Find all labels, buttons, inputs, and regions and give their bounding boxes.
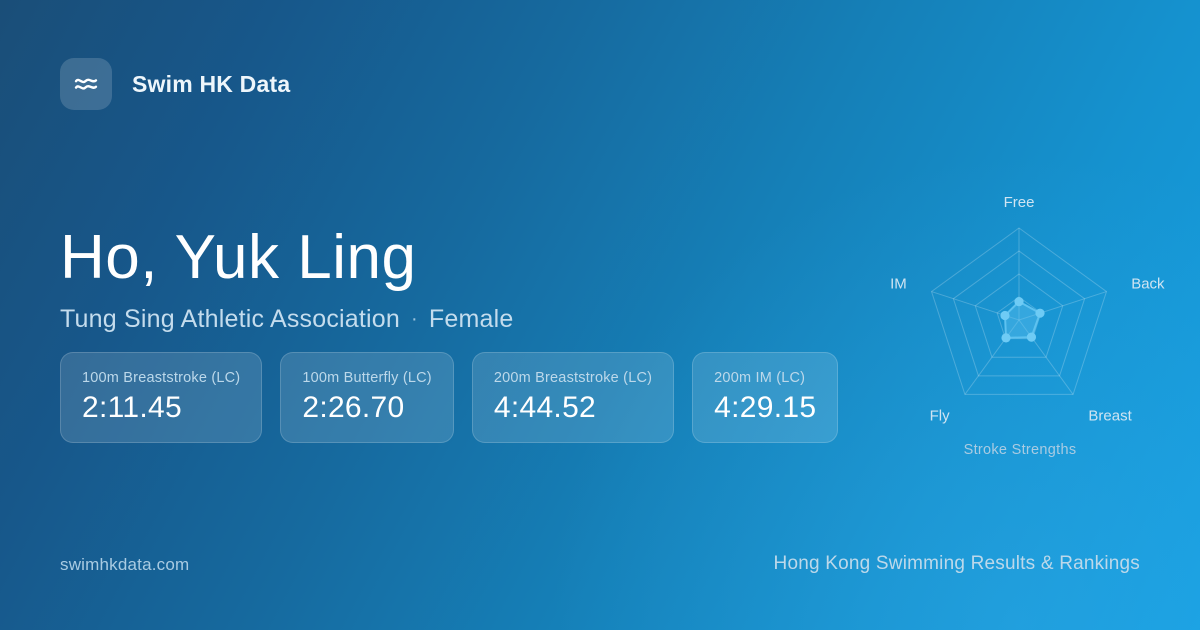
meta-separator: · <box>411 308 418 331</box>
athlete-header: Ho, Yuk Ling Tung Sing Athletic Associat… <box>60 222 513 334</box>
athlete-club: Tung Sing Athletic Association <box>60 305 400 334</box>
radar-axis-label: Free <box>1004 194 1035 211</box>
radar-data-point <box>1014 297 1023 306</box>
radar-data-point <box>1035 309 1044 318</box>
event-card: 100m Butterfly (LC) 2:26.70 <box>280 352 454 443</box>
radar-data-point <box>1001 333 1010 342</box>
radar-axis-label: IM <box>890 276 907 293</box>
event-time: 4:44.52 <box>494 392 652 424</box>
event-time: 2:26.70 <box>302 392 432 424</box>
wave-icon <box>60 58 112 110</box>
radar-data-point <box>1000 311 1009 320</box>
og-card-canvas: Swim HK Data Ho, Yuk Ling Tung Sing Athl… <box>0 0 1200 630</box>
page-title: Ho, Yuk Ling <box>60 222 513 293</box>
event-card: 100m Breaststroke (LC) 2:11.45 <box>60 352 262 443</box>
footer-tagline: Hong Kong Swimming Results & Rankings <box>774 553 1140 575</box>
event-label: 100m Breaststroke (LC) <box>82 370 240 386</box>
radar-axis-label: Back <box>1131 276 1165 293</box>
stroke-strengths-radar-chart: FreeBackBreastFlyIM Stroke Strengths <box>874 176 1166 468</box>
event-time: 2:11.45 <box>82 392 240 424</box>
footer-site-url: swimhkdata.com <box>60 555 189 575</box>
event-time: 4:29.15 <box>714 392 816 424</box>
event-card: 200m Breaststroke (LC) 4:44.52 <box>472 352 674 443</box>
brand-lockup: Swim HK Data <box>60 58 290 110</box>
event-card: 200m IM (LC) 4:29.15 <box>692 352 838 443</box>
event-card-list: 100m Breaststroke (LC) 2:11.45 100m Butt… <box>60 352 838 443</box>
athlete-meta: Tung Sing Athletic Association · Female <box>60 305 513 334</box>
brand-name: Swim HK Data <box>132 71 290 98</box>
radar-caption: Stroke Strengths <box>874 442 1166 458</box>
radar-data-point <box>1027 333 1036 342</box>
radar-axis-label: Breast <box>1088 408 1132 425</box>
radar-axis-label: Fly <box>930 408 950 425</box>
athlete-gender: Female <box>429 305 514 334</box>
event-label: 200m IM (LC) <box>714 370 816 386</box>
event-label: 100m Butterfly (LC) <box>302 370 432 386</box>
event-label: 200m Breaststroke (LC) <box>494 370 652 386</box>
